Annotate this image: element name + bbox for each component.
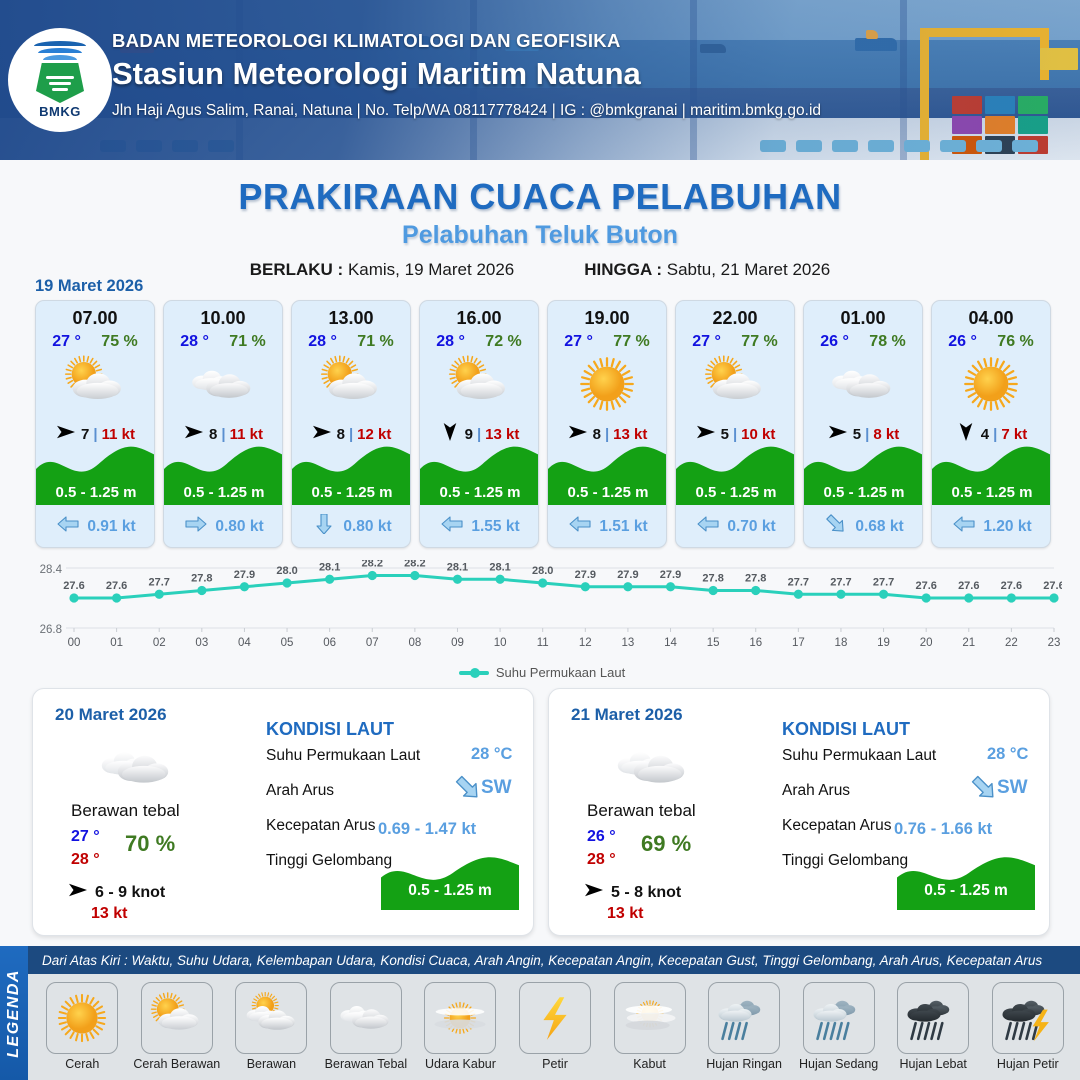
current-direction-value: SW [481, 777, 512, 799]
validity-row: BERLAKU : Kamis, 19 Maret 2026 HINGGA : … [0, 260, 1080, 280]
sun-cloud-icon [420, 353, 538, 415]
card-gust: 7 kt [1001, 426, 1027, 443]
forecast-card: 13.00 28 ° 71 % 8 | 12 kt 0.5 - 1.25 m 0… [291, 300, 411, 548]
valid-to-label: HINGGA : [584, 260, 662, 279]
card-current-speed: 1.55 kt [471, 518, 519, 536]
legend-item-label: Hujan Ringan [706, 1057, 782, 1071]
card-gust: 8 kt [873, 426, 899, 443]
svg-text:27.8: 27.8 [702, 573, 723, 585]
haze-sun-icon [424, 982, 496, 1054]
current-direction-arrow-icon [568, 514, 592, 539]
card-temperature: 27 ° [692, 333, 721, 351]
card-temperature: 28 ° [308, 333, 337, 351]
svg-text:20: 20 [920, 637, 933, 649]
legend-item: Petir [509, 982, 602, 1071]
legend-items: Cerah Cerah Berawan Berawan Berawan Teba… [28, 974, 1080, 1080]
page-subtitle: Pelabuhan Teluk Buton [0, 221, 1080, 250]
card-gust: 11 kt [102, 426, 135, 443]
wave-height-label: Tinggi Gelombang [782, 852, 908, 870]
separator: | [93, 426, 97, 443]
legend-item: Hujan Sedang [792, 982, 885, 1071]
valid-to: HINGGA : Sabtu, 21 Maret 2026 [584, 260, 830, 280]
legend-item-label: Hujan Petir [997, 1057, 1059, 1071]
current-direction-arrow-icon [440, 514, 464, 539]
svg-text:01: 01 [110, 637, 123, 649]
separator: | [993, 426, 997, 443]
svg-text:27.9: 27.9 [660, 569, 681, 581]
card-wave-height: 0.5 - 1.25 m [804, 484, 923, 501]
sea-conditions-title: KONDISI LAUT [266, 719, 394, 740]
current-speed-value: 0.76 - 1.66 kt [894, 820, 992, 839]
current-direction-value: SW [997, 777, 1028, 799]
svg-text:11: 11 [537, 637, 549, 649]
forecast-card-list: 07.00 27 ° 75 % 7 | 11 kt 0.5 - 1.25 m 0… [35, 300, 1051, 548]
sun-clouds-icon [235, 982, 307, 1054]
separator: | [865, 426, 869, 443]
card-humidity: 71 % [357, 333, 393, 351]
svg-text:02: 02 [153, 637, 166, 649]
card-wave-height: 0.5 - 1.25 m [164, 484, 283, 501]
card-wind-speed: 4 [981, 426, 989, 443]
light-rain-icon [708, 982, 780, 1054]
legend-item: Kabut [603, 982, 696, 1071]
legend-item: Hujan Ringan [698, 982, 791, 1071]
svg-text:05: 05 [281, 637, 294, 649]
daily-summary-panel: 20 Maret 2026 Berawan tebal 27 ° 28 ° 70… [32, 688, 534, 936]
day-humidity: 69 % [641, 831, 691, 857]
day-temp-max: 28 ° [71, 851, 100, 869]
svg-text:18: 18 [835, 637, 848, 649]
sun-icon [932, 353, 1050, 415]
card-wind-speed: 9 [465, 426, 473, 443]
svg-text:00: 00 [68, 637, 81, 649]
current-direction-arrow-icon [453, 775, 483, 806]
svg-text:27.6: 27.6 [106, 580, 127, 592]
current-direction-arrow-icon [56, 514, 80, 539]
sun-icon [548, 353, 666, 415]
sun-cloud-icon [292, 353, 410, 415]
card-time: 22.00 [676, 308, 794, 329]
svg-text:08: 08 [408, 637, 421, 649]
sst-label: Suhu Permukaan Laut [782, 747, 936, 765]
legend-item: Berawan Tebal [320, 982, 413, 1071]
page-header: BMKG BADAN METEOROLOGI KLIMATOLOGI DAN G… [0, 0, 1080, 160]
separator: | [221, 426, 225, 443]
svg-text:28.2: 28.2 [362, 560, 383, 570]
page-title: PRAKIRAAN CUACA PELABUHAN [0, 176, 1080, 218]
legend-item-label: Berawan Tebal [325, 1057, 407, 1071]
sst-chart: 28.426.827.60027.60127.70227.80327.90428… [22, 560, 1062, 680]
forecast-card: 16.00 28 ° 72 % 9 | 13 kt 0.5 - 1.25 m 1… [419, 300, 539, 548]
current-direction-label: Arah Arus [782, 782, 850, 800]
card-time: 07.00 [36, 308, 154, 329]
svg-text:28.1: 28.1 [447, 561, 468, 573]
sun-icon [46, 982, 118, 1054]
wave-height-label: Tinggi Gelombang [266, 852, 392, 870]
day-wind: 6 - 9 knot [95, 884, 165, 902]
svg-text:12: 12 [579, 637, 592, 649]
card-wave-height: 0.5 - 1.25 m [548, 484, 667, 501]
current-direction-arrow-icon [696, 514, 720, 539]
legend-item-label: Hujan Lebat [899, 1057, 966, 1071]
cloud-icon [97, 737, 177, 798]
legend-marker-icon [459, 671, 489, 675]
sea-conditions-title: KONDISI LAUT [782, 719, 910, 740]
svg-text:13: 13 [622, 637, 635, 649]
legend-side-label: LEGENDA [5, 969, 23, 1058]
contact-info: Jln Haji Agus Salim, Ranai, Natuna | No.… [112, 102, 821, 120]
svg-text:27.8: 27.8 [191, 573, 212, 585]
legend-item: Berawan [225, 982, 318, 1071]
day-temp-max: 28 ° [587, 851, 616, 869]
svg-text:28.4: 28.4 [40, 564, 63, 576]
legend-item-label: Kabut [633, 1057, 666, 1071]
card-temperature: 27 ° [52, 333, 81, 351]
forecast-card: 22.00 27 ° 77 % 5 | 10 kt 0.5 - 1.25 m 0… [675, 300, 795, 548]
svg-text:27.6: 27.6 [915, 580, 936, 592]
legend-item-label: Cerah Berawan [133, 1057, 220, 1071]
svg-text:27.7: 27.7 [830, 576, 851, 588]
separator: | [733, 426, 737, 443]
clouds-icon [330, 982, 402, 1054]
day-temp-min: 27 ° [71, 828, 100, 846]
card-wind-speed: 5 [721, 426, 729, 443]
card-humidity: 72 % [485, 333, 521, 351]
card-wave-height: 0.5 - 1.25 m [420, 484, 539, 501]
svg-text:27.8: 27.8 [745, 573, 766, 585]
sst-label: Suhu Permukaan Laut [266, 747, 420, 765]
forecast-card: 07.00 27 ° 75 % 7 | 11 kt 0.5 - 1.25 m 0… [35, 300, 155, 548]
svg-text:27.7: 27.7 [788, 576, 809, 588]
sun-cloud-icon [676, 353, 794, 415]
card-gust: 13 kt [485, 426, 519, 443]
card-time: 04.00 [932, 308, 1050, 329]
svg-text:28.0: 28.0 [276, 565, 297, 577]
legend-item-label: Cerah [65, 1057, 99, 1071]
svg-text:16: 16 [749, 637, 762, 649]
svg-text:28.1: 28.1 [489, 561, 510, 573]
card-current-speed: 0.70 kt [727, 518, 775, 536]
svg-text:17: 17 [792, 637, 805, 649]
svg-text:28.0: 28.0 [532, 565, 553, 577]
card-current-speed: 1.51 kt [599, 518, 647, 536]
logo-pentagon-icon [36, 63, 84, 103]
title-block: PRAKIRAAN CUACA PELABUHAN Pelabuhan Telu… [0, 176, 1080, 280]
card-current-speed: 0.80 kt [343, 518, 391, 536]
current-direction-arrow-icon [184, 514, 208, 539]
svg-text:28.1: 28.1 [319, 561, 340, 573]
card-wind-speed: 8 [593, 426, 601, 443]
current-speed-label: Kecepatan Arus [266, 817, 375, 835]
day-gust: 13 kt [91, 905, 127, 923]
moderate-rain-icon [803, 982, 875, 1054]
current-direction-arrow-icon [969, 775, 999, 806]
legend-item: Udara Kabur [414, 982, 507, 1071]
card-wind-speed: 5 [853, 426, 861, 443]
thunderstorm-icon [992, 982, 1064, 1054]
card-current-speed: 0.68 kt [855, 518, 903, 536]
valid-from-label: BERLAKU : [250, 260, 344, 279]
card-temperature: 26 ° [820, 333, 849, 351]
daily-summary-panel: 21 Maret 2026 Berawan tebal 26 ° 28 ° 69… [548, 688, 1050, 936]
wave-height-value: 0.5 - 1.25 m [897, 882, 1035, 900]
wind-direction-arrow-icon [583, 881, 605, 904]
legend-side-tab: LEGENDA [0, 946, 28, 1080]
valid-from-value: Kamis, 19 Maret 2026 [348, 260, 514, 279]
svg-text:21: 21 [962, 637, 975, 649]
day-humidity: 70 % [125, 831, 175, 857]
card-gust: 11 kt [230, 426, 263, 443]
chart-legend-label: Suhu Permukaan Laut [496, 665, 625, 680]
svg-text:04: 04 [238, 637, 251, 649]
legend-item: Cerah [36, 982, 129, 1071]
sun-cloud-icon [36, 353, 154, 415]
fog-icon [614, 982, 686, 1054]
svg-text:07: 07 [366, 637, 379, 649]
card-wave-height: 0.5 - 1.25 m [292, 484, 411, 501]
svg-text:27.9: 27.9 [617, 569, 638, 581]
current-direction-arrow-icon [312, 514, 336, 539]
svg-text:27.9: 27.9 [575, 569, 596, 581]
forecast-card: 04.00 26 ° 76 % 4 | 7 kt 0.5 - 1.25 m 1.… [931, 300, 1051, 548]
legend-section: LEGENDA Dari Atas Kiri : Waktu, Suhu Uda… [0, 946, 1080, 1080]
card-humidity: 77 % [741, 333, 777, 351]
sst-value: 28 °C [471, 745, 512, 764]
card-temperature: 27 ° [564, 333, 593, 351]
legend-item-label: Hujan Sedang [799, 1057, 878, 1071]
card-humidity: 78 % [869, 333, 905, 351]
svg-text:19: 19 [877, 637, 890, 649]
legend-item-label: Berawan [247, 1057, 296, 1071]
card-wave-height: 0.5 - 1.25 m [932, 484, 1051, 501]
separator: | [605, 426, 609, 443]
sst-value: 28 °C [987, 745, 1028, 764]
svg-text:27.7: 27.7 [873, 576, 894, 588]
card-time: 01.00 [804, 308, 922, 329]
bmkg-logo: BMKG [8, 28, 112, 132]
svg-text:10: 10 [494, 637, 507, 649]
logo-label: BMKG [39, 104, 81, 119]
svg-text:15: 15 [707, 637, 720, 649]
day-condition: Berawan tebal [587, 801, 696, 821]
card-temperature: 28 ° [180, 333, 209, 351]
svg-text:26.8: 26.8 [40, 624, 62, 636]
sun-cloud-icon [141, 982, 213, 1054]
legend-item-label: Petir [542, 1057, 568, 1071]
card-humidity: 75 % [101, 333, 137, 351]
card-time: 16.00 [420, 308, 538, 329]
svg-text:27.6: 27.6 [958, 580, 979, 592]
card-wave-height: 0.5 - 1.25 m [676, 484, 795, 501]
valid-from: BERLAKU : Kamis, 19 Maret 2026 [250, 260, 515, 280]
valid-to-value: Sabtu, 21 Maret 2026 [667, 260, 831, 279]
current-speed-label: Kecepatan Arus [782, 817, 891, 835]
forecast-card: 01.00 26 ° 78 % 5 | 8 kt 0.5 - 1.25 m 0.… [803, 300, 923, 548]
legend-item: Hujan Lebat [887, 982, 980, 1071]
card-humidity: 76 % [997, 333, 1033, 351]
day-gust: 13 kt [607, 905, 643, 923]
svg-text:06: 06 [323, 637, 336, 649]
forecast-date-label: 19 Maret 2026 [35, 277, 143, 296]
cloud-icon [804, 353, 922, 415]
card-time: 10.00 [164, 308, 282, 329]
card-time: 13.00 [292, 308, 410, 329]
current-speed-value: 0.69 - 1.47 kt [378, 820, 476, 839]
card-wave-height: 0.5 - 1.25 m [36, 484, 155, 501]
card-wind-speed: 7 [81, 426, 89, 443]
svg-text:22: 22 [1005, 637, 1018, 649]
card-time: 19.00 [548, 308, 666, 329]
card-gust: 13 kt [613, 426, 647, 443]
current-direction-arrow-icon [824, 514, 848, 539]
day-condition: Berawan tebal [71, 801, 180, 821]
svg-text:27.7: 27.7 [149, 576, 170, 588]
svg-text:27.9: 27.9 [234, 569, 255, 581]
day-date: 20 Maret 2026 [55, 705, 167, 725]
station-name: Stasiun Meteorologi Maritim Natuna [112, 56, 821, 92]
legend-item-label: Udara Kabur [425, 1057, 496, 1071]
legend-item: Hujan Petir [981, 982, 1074, 1071]
logo-arcs-icon [34, 41, 86, 62]
card-wind-speed: 8 [337, 426, 345, 443]
current-direction-arrow-icon [952, 514, 976, 539]
agency-name: BADAN METEOROLOGI KLIMATOLOGI DAN GEOFIS… [112, 30, 821, 52]
day-wind: 5 - 8 knot [611, 884, 681, 902]
heavy-rain-icon [897, 982, 969, 1054]
cloud-icon [613, 737, 693, 798]
forecast-card: 19.00 27 ° 77 % 8 | 13 kt 0.5 - 1.25 m 1… [547, 300, 667, 548]
svg-text:27.6: 27.6 [1001, 580, 1022, 592]
chart-legend: Suhu Permukaan Laut [22, 665, 1062, 680]
legend-note: Dari Atas Kiri : Waktu, Suhu Udara, Kele… [28, 946, 1080, 974]
card-gust: 10 kt [741, 426, 775, 443]
card-temperature: 26 ° [948, 333, 977, 351]
wave-height-value: 0.5 - 1.25 m [381, 882, 519, 900]
separator: | [477, 426, 481, 443]
card-current-speed: 1.20 kt [983, 518, 1031, 536]
legend-item: Cerah Berawan [131, 982, 224, 1071]
card-humidity: 77 % [613, 333, 649, 351]
card-current-speed: 0.80 kt [215, 518, 263, 536]
card-humidity: 71 % [229, 333, 265, 351]
daily-summary-list: 20 Maret 2026 Berawan tebal 27 ° 28 ° 70… [32, 688, 1050, 936]
separator: | [349, 426, 353, 443]
cloud-icon [164, 353, 282, 415]
card-gust: 12 kt [357, 426, 391, 443]
svg-text:28.2: 28.2 [404, 560, 425, 570]
day-date: 21 Maret 2026 [571, 705, 683, 725]
svg-text:03: 03 [195, 637, 208, 649]
forecast-card: 10.00 28 ° 71 % 8 | 11 kt 0.5 - 1.25 m 0… [163, 300, 283, 548]
svg-text:09: 09 [451, 637, 464, 649]
svg-text:27.6: 27.6 [63, 580, 84, 592]
svg-text:27.6: 27.6 [1043, 580, 1062, 592]
svg-text:23: 23 [1048, 637, 1061, 649]
current-direction-label: Arah Arus [266, 782, 334, 800]
card-wind-speed: 8 [209, 426, 217, 443]
header-text-block: BADAN METEOROLOGI KLIMATOLOGI DAN GEOFIS… [112, 30, 821, 120]
card-temperature: 28 ° [436, 333, 465, 351]
card-current-speed: 0.91 kt [87, 518, 135, 536]
lightning-icon [519, 982, 591, 1054]
day-temp-min: 26 ° [587, 828, 616, 846]
svg-text:14: 14 [664, 637, 677, 649]
wind-direction-arrow-icon [67, 881, 89, 904]
